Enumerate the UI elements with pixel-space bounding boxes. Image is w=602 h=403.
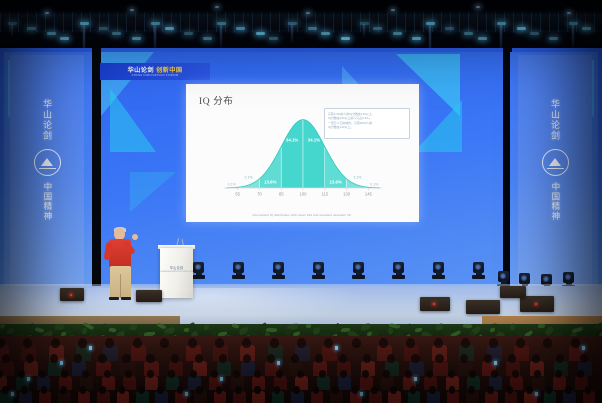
presenter-shoe-right bbox=[121, 297, 131, 300]
leaf bbox=[129, 324, 136, 331]
moving-head-light bbox=[232, 262, 245, 279]
mountain-emblem-icon-left bbox=[34, 149, 61, 176]
podium-logo-text: 华山论剑 bbox=[160, 265, 193, 270]
phone-screen bbox=[277, 361, 280, 365]
audience-head bbox=[319, 370, 326, 378]
light-lens bbox=[500, 273, 506, 279]
light-beam bbox=[220, 24, 222, 50]
slide-title: IQ 分布 bbox=[199, 93, 233, 107]
light-lens bbox=[315, 264, 321, 270]
leaf bbox=[406, 323, 415, 332]
audience-head bbox=[507, 386, 514, 394]
moving-head-light bbox=[472, 262, 485, 279]
light-base bbox=[352, 275, 365, 279]
light-lens bbox=[521, 275, 527, 281]
audience-head bbox=[434, 338, 443, 348]
leaf bbox=[537, 324, 544, 329]
trouser-seam bbox=[120, 274, 121, 298]
banner-left: 华山论剑 中国精神 bbox=[10, 55, 84, 293]
audience-head bbox=[546, 386, 553, 394]
audience-head bbox=[532, 354, 540, 363]
emblem-bar bbox=[39, 168, 56, 169]
audience-head bbox=[267, 354, 275, 363]
audience-head bbox=[171, 354, 179, 363]
presenter-hand bbox=[132, 234, 138, 240]
audience-head bbox=[435, 354, 443, 363]
light-base bbox=[432, 275, 445, 279]
audience-head bbox=[379, 338, 388, 348]
audience-head bbox=[556, 354, 564, 363]
bell-curve-svg: 55708510011513014534.1%34.1%13.6%13.6%2.… bbox=[208, 110, 388, 208]
banner-left-subtitle: 中国精神 bbox=[42, 182, 52, 221]
light-base bbox=[472, 275, 485, 279]
audience-head bbox=[332, 386, 339, 394]
truss-spark bbox=[476, 6, 480, 8]
audience-member bbox=[145, 376, 158, 390]
band-label-115-130: 13.6% bbox=[329, 180, 342, 185]
phone-screen bbox=[11, 392, 14, 396]
audience-member bbox=[532, 376, 545, 390]
light-lens bbox=[195, 264, 201, 270]
x-tick-label: 55 bbox=[235, 191, 240, 196]
phone-screen bbox=[89, 346, 92, 350]
audience-head bbox=[534, 370, 541, 378]
audience-head bbox=[580, 354, 588, 363]
audience-head bbox=[291, 354, 299, 363]
audience-head bbox=[324, 338, 333, 348]
light-lens bbox=[275, 264, 281, 270]
moving-head-light bbox=[432, 262, 445, 279]
audience-head bbox=[352, 386, 359, 394]
band-85-100 bbox=[281, 120, 303, 188]
x-tick-label: 115 bbox=[321, 191, 328, 196]
band-100-115 bbox=[303, 120, 325, 188]
stage-monitor-6 bbox=[500, 286, 526, 298]
audience-head bbox=[146, 354, 154, 363]
truss-lamp bbox=[530, 32, 539, 35]
audience-head bbox=[516, 338, 525, 348]
banner-right-title: 华山论剑 bbox=[550, 99, 560, 141]
truss-spark bbox=[130, 9, 134, 11]
audience-head bbox=[405, 370, 412, 378]
light-base bbox=[312, 275, 325, 279]
phone-screen bbox=[535, 392, 538, 396]
moving-head-light bbox=[272, 262, 285, 279]
event-header-strip: 华山论剑 创新中国 CHINA INNOVATION FORUM bbox=[100, 63, 210, 80]
truss-lamp bbox=[582, 27, 591, 30]
moving-head-light bbox=[312, 262, 325, 279]
audience-head bbox=[138, 386, 145, 394]
event-header-line2: CHINA INNOVATION FORUM bbox=[100, 73, 210, 77]
audience-head bbox=[242, 338, 251, 348]
podium: 华山论剑 CHINA INNOVATION FORUM 2018 bbox=[160, 248, 193, 298]
leaf bbox=[109, 327, 117, 333]
band-label-85-100: 34.1% bbox=[286, 138, 299, 143]
mountain-glyph bbox=[549, 158, 561, 166]
audience-head bbox=[313, 386, 320, 394]
audience-head bbox=[23, 338, 32, 348]
x-tick-label: 70 bbox=[257, 191, 262, 196]
stage-monitor-1 bbox=[60, 288, 84, 301]
audience-head bbox=[104, 370, 111, 378]
light-beam bbox=[363, 24, 365, 38]
crystal-shape-4 bbox=[414, 100, 462, 152]
light-lens bbox=[395, 264, 401, 270]
audience-head bbox=[195, 354, 203, 363]
band-label-130-145: 2.1% bbox=[353, 176, 362, 180]
truss-lamp bbox=[549, 37, 558, 40]
x-tick-label: 100 bbox=[300, 191, 308, 196]
truss-lamp bbox=[184, 32, 193, 35]
chart-caption: Normalized IQ distribution with mean 100… bbox=[208, 213, 396, 217]
audience-head bbox=[78, 338, 87, 348]
audience-member bbox=[123, 376, 136, 390]
audience-head bbox=[352, 338, 361, 348]
truss-lamp bbox=[412, 37, 421, 40]
leaf bbox=[231, 323, 239, 330]
truss-spark bbox=[45, 12, 49, 14]
iq-distribution-chart: 55708510011513014534.1%34.1%13.6%13.6%2.… bbox=[208, 110, 388, 208]
audience-head bbox=[460, 354, 468, 363]
audience-head bbox=[487, 386, 494, 394]
audience-head bbox=[122, 354, 130, 363]
band-label->145: 0.1% bbox=[370, 183, 379, 187]
audience-head bbox=[293, 386, 300, 394]
audience-head bbox=[571, 338, 580, 348]
audience-head bbox=[196, 386, 203, 394]
audience-head bbox=[254, 386, 261, 394]
audience-head bbox=[98, 354, 106, 363]
leaf bbox=[7, 328, 14, 334]
audience-head bbox=[99, 386, 106, 394]
band-label-<55: 0.1% bbox=[228, 183, 237, 187]
phone-screen bbox=[27, 377, 30, 381]
audience-head bbox=[243, 354, 251, 363]
truss-lamp bbox=[308, 27, 317, 30]
truss-lamp bbox=[112, 32, 121, 35]
stage-monitor-3 bbox=[420, 297, 450, 311]
audience-head bbox=[51, 338, 60, 348]
band-label-55-70: 2.1% bbox=[244, 176, 253, 180]
truss-spark bbox=[391, 9, 395, 11]
projected-slide: IQ 分布 只有2.3%的人的IQ分数在130以上， IQ分数在140以上的人只… bbox=[186, 84, 419, 222]
banner-left-title: 华山论剑 bbox=[42, 99, 52, 141]
phone-screen bbox=[60, 361, 63, 365]
phone-screen bbox=[494, 361, 497, 365]
truss-lamp bbox=[132, 37, 141, 40]
light-lens bbox=[435, 264, 441, 270]
audience-head bbox=[543, 338, 552, 348]
audience-head bbox=[565, 386, 572, 394]
light-beam bbox=[572, 24, 574, 50]
audience-head bbox=[390, 386, 397, 394]
phone-screen bbox=[185, 392, 188, 396]
presenter bbox=[102, 228, 140, 300]
light-base bbox=[392, 275, 405, 279]
audience-head bbox=[21, 386, 28, 394]
audience-head bbox=[61, 370, 68, 378]
phone-screen bbox=[220, 377, 223, 381]
audience-head bbox=[484, 354, 492, 363]
audience-head bbox=[219, 354, 227, 363]
audience-head bbox=[2, 354, 10, 363]
phone-screen bbox=[335, 346, 338, 350]
crystal-shape-2 bbox=[110, 88, 156, 152]
moving-head-light bbox=[352, 262, 365, 279]
x-tick-label: 145 bbox=[365, 191, 373, 196]
audience-head bbox=[215, 338, 224, 348]
audience-head bbox=[147, 370, 154, 378]
slide-canvas: IQ 分布 只有2.3%的人的IQ分数在130以上， IQ分数在140以上的人只… bbox=[186, 84, 419, 222]
audience-head bbox=[133, 338, 142, 348]
truss-lamp bbox=[393, 32, 402, 35]
mountain-emblem-icon-right bbox=[542, 149, 569, 176]
audience-head bbox=[216, 386, 223, 394]
stage-monitor-4 bbox=[466, 300, 500, 314]
truss-lamp bbox=[321, 32, 330, 35]
phone-screen bbox=[360, 392, 363, 396]
audience-head bbox=[526, 386, 533, 394]
leaf bbox=[204, 324, 209, 330]
banner-right: 华山论剑 中国精神 bbox=[518, 55, 592, 293]
truss-lamp bbox=[445, 27, 454, 30]
audience-head bbox=[585, 386, 592, 394]
audience-head bbox=[188, 338, 197, 348]
audience-head bbox=[157, 386, 164, 394]
leaf bbox=[0, 323, 6, 329]
audience-head bbox=[177, 386, 184, 394]
phone-screen bbox=[414, 377, 417, 381]
audience-head bbox=[233, 370, 240, 378]
presenter-shoe-left bbox=[109, 297, 119, 300]
audience-head bbox=[491, 370, 498, 378]
leaf bbox=[435, 323, 443, 331]
monitor-led bbox=[70, 294, 72, 296]
leaf bbox=[34, 326, 44, 333]
truss-lamp bbox=[165, 27, 174, 30]
light-lens bbox=[355, 264, 361, 270]
monitor-led bbox=[433, 303, 435, 305]
audience-head bbox=[297, 338, 306, 348]
audience-head bbox=[448, 370, 455, 378]
light-lens bbox=[543, 276, 549, 282]
truss-spark bbox=[306, 12, 310, 14]
audience-head bbox=[449, 386, 456, 394]
truss-lamp bbox=[99, 27, 108, 30]
truss-lamp bbox=[478, 37, 487, 40]
leaf bbox=[81, 328, 87, 335]
leaf bbox=[305, 323, 311, 328]
audience-head bbox=[274, 386, 281, 394]
audience-head bbox=[18, 370, 25, 378]
audience-head bbox=[429, 386, 436, 394]
audience-head bbox=[41, 386, 48, 394]
truss-spark bbox=[567, 12, 571, 14]
band-label-100-115: 34.1% bbox=[308, 138, 321, 143]
light-base bbox=[272, 275, 285, 279]
moving-head-light bbox=[392, 262, 405, 279]
truss-lamp bbox=[256, 32, 265, 35]
photo-scene: 华山论剑 创新中国 CHINA INNOVATION FORUM IQ 分布 只… bbox=[0, 0, 602, 403]
truss-lamp bbox=[47, 32, 56, 35]
leaf bbox=[509, 323, 516, 330]
stage-monitor-2 bbox=[136, 290, 162, 302]
audience-head bbox=[2, 386, 9, 394]
truss-lamp bbox=[373, 27, 382, 30]
audience-head bbox=[60, 386, 67, 394]
audience-head bbox=[362, 370, 369, 378]
light-beam bbox=[11, 24, 13, 38]
audience-head bbox=[489, 338, 498, 348]
audience-head bbox=[577, 370, 584, 378]
emblem-bar bbox=[547, 168, 564, 169]
stage-monitor-5 bbox=[520, 296, 554, 312]
audience-head bbox=[468, 386, 475, 394]
moving-head-light bbox=[192, 262, 205, 279]
audience-head bbox=[160, 338, 169, 348]
truss-lattice bbox=[0, 12, 602, 32]
audience-head bbox=[410, 386, 417, 394]
audience-head bbox=[270, 338, 279, 348]
tower-gap-left bbox=[92, 48, 101, 298]
crystal-shape-6 bbox=[130, 172, 176, 212]
mountain-glyph bbox=[41, 158, 53, 166]
truss-lamp bbox=[27, 27, 36, 30]
light-lens bbox=[235, 264, 241, 270]
audience-head bbox=[508, 354, 516, 363]
podium-sub-text: CHINA INNOVATION FORUM 2018 bbox=[160, 271, 193, 274]
x-tick-label: 85 bbox=[279, 191, 284, 196]
leaf bbox=[415, 328, 422, 332]
band-label-70-85: 13.6% bbox=[264, 180, 277, 185]
audience-member bbox=[338, 376, 351, 390]
audience-head bbox=[119, 386, 126, 394]
leaf bbox=[463, 323, 473, 329]
audience-head bbox=[80, 386, 87, 394]
audience-area bbox=[0, 336, 602, 403]
monitor-led bbox=[535, 303, 537, 305]
truss-lamp bbox=[203, 37, 212, 40]
truss-spark bbox=[215, 6, 219, 8]
audience-head bbox=[276, 370, 283, 378]
leaf bbox=[386, 327, 393, 335]
light-base bbox=[232, 275, 245, 279]
light-lens bbox=[565, 274, 571, 280]
audience-head bbox=[315, 354, 323, 363]
banner-right-subtitle: 中国精神 bbox=[550, 182, 560, 221]
light-base bbox=[192, 275, 205, 279]
truss-lamp bbox=[60, 37, 69, 40]
audience-head bbox=[190, 370, 197, 378]
leaf bbox=[183, 328, 189, 333]
truss-lamp bbox=[341, 37, 350, 40]
light-lens bbox=[475, 264, 481, 270]
audience-head bbox=[461, 338, 470, 348]
audience-head bbox=[371, 386, 378, 394]
phone-screen bbox=[582, 346, 585, 350]
light-beam bbox=[291, 24, 293, 44]
truss-lamp bbox=[464, 32, 473, 35]
audience-head bbox=[411, 354, 419, 363]
x-tick-label: 130 bbox=[343, 191, 351, 196]
truss-lamp bbox=[517, 27, 526, 30]
truss-lamp bbox=[269, 37, 278, 40]
audience-head bbox=[235, 386, 242, 394]
truss-lamp bbox=[236, 27, 245, 30]
leaf bbox=[101, 323, 108, 332]
